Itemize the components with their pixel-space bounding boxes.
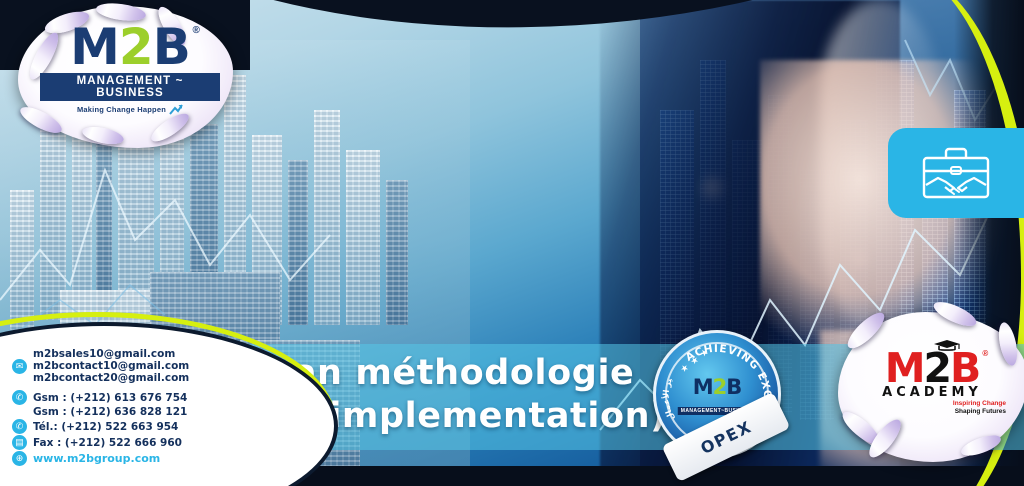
marketing-banner: M2B ® MANAGEMENT ~ BUSINESS Making Chang…: [0, 0, 1024, 486]
phone-row[interactable]: ✆ Tél.: (+212) 522 663 954: [12, 419, 242, 434]
graduation-cap-icon: [932, 339, 962, 351]
academy-tagline: Inspiring Change Shaping Futures: [852, 400, 1012, 415]
m2b-academy-logo[interactable]: M2B ® ACADEMY Inspiring Change Shaping F…: [852, 348, 1012, 418]
business-service-tab[interactable]: [888, 128, 1024, 218]
fax-icon: ▤: [12, 435, 27, 450]
m2b-subtitle: MANAGEMENT ~ BUSINESS: [40, 73, 220, 101]
m2b-letter-b: B: [153, 18, 190, 76]
phone-number[interactable]: Tél.: (+212) 522 663 954: [33, 421, 178, 433]
contact-list: ✉ m2bsales10@gmail.com m2bcontact10@gmai…: [12, 348, 242, 467]
phone-number[interactable]: Gsm : (+212) 636 828 121: [33, 406, 187, 418]
m2b-letter-2: 2: [119, 18, 153, 76]
academy-tagline-line-2: Shaping Futures: [955, 408, 1006, 415]
email-address[interactable]: m2bcontact20@gmail.com: [33, 372, 189, 384]
m2b-tagline-row: Making Change Happen: [40, 104, 220, 115]
email-address[interactable]: m2bsales10@gmail.com: [33, 348, 189, 360]
briefcase-handshake-icon: [920, 145, 992, 201]
svg-text:نحو التميز الأعمال: نحو التميز الأعمال: [656, 333, 676, 422]
badge-letter-m: M: [693, 375, 713, 399]
phone-row[interactable]: ✆ Gsm : (+212) 613 676 754: [12, 390, 242, 405]
fax-row[interactable]: ▤ Fax : (+212) 522 666 960: [12, 435, 242, 450]
badge-letter-2: 2: [713, 375, 727, 399]
phone-number[interactable]: Gsm : (+212) 613 676 754: [33, 392, 187, 404]
email-address[interactable]: m2bcontact10@gmail.com: [33, 360, 189, 372]
m2b-letter-m: M: [70, 18, 119, 76]
globe-icon: ⊕: [12, 451, 27, 466]
registered-trademark-icon: ®: [192, 26, 199, 36]
m2b-lettermark: M2B ®: [70, 22, 190, 72]
phone-icon: ✆: [12, 419, 27, 434]
m2b-master-logo[interactable]: M2B ® MANAGEMENT ~ BUSINESS Making Chang…: [40, 22, 220, 132]
m2b-tagline: Making Change Happen: [77, 105, 166, 114]
fax-number[interactable]: Fax : (+212) 522 666 960: [33, 437, 182, 449]
email-group[interactable]: ✉ m2bsales10@gmail.com m2bcontact10@gmai…: [12, 348, 242, 384]
phone-row[interactable]: Gsm : (+212) 636 828 121: [12, 406, 242, 418]
envelope-icon: ✉: [12, 359, 27, 374]
growth-arrow-icon: [169, 104, 183, 115]
website-url[interactable]: www.m2bgroup.com: [33, 452, 160, 465]
academy-letter-2: 2: [924, 344, 951, 392]
website-row[interactable]: ⊕ www.m2bgroup.com: [12, 451, 242, 466]
academy-tagline-line-1: Inspiring Change: [953, 400, 1006, 407]
registered-trademark-icon: ®: [982, 350, 988, 358]
academy-letter-m: M: [885, 344, 924, 392]
phone-icon: ✆: [12, 390, 27, 405]
academy-lettermark: M2B ®: [885, 348, 980, 389]
badge-letter-b: B: [726, 375, 741, 399]
academy-letter-b: B: [950, 344, 979, 392]
opex-excellence-badge[interactable]: ACHIEVING EXCELLENCE نحو التميز الأعمال …: [653, 330, 781, 458]
